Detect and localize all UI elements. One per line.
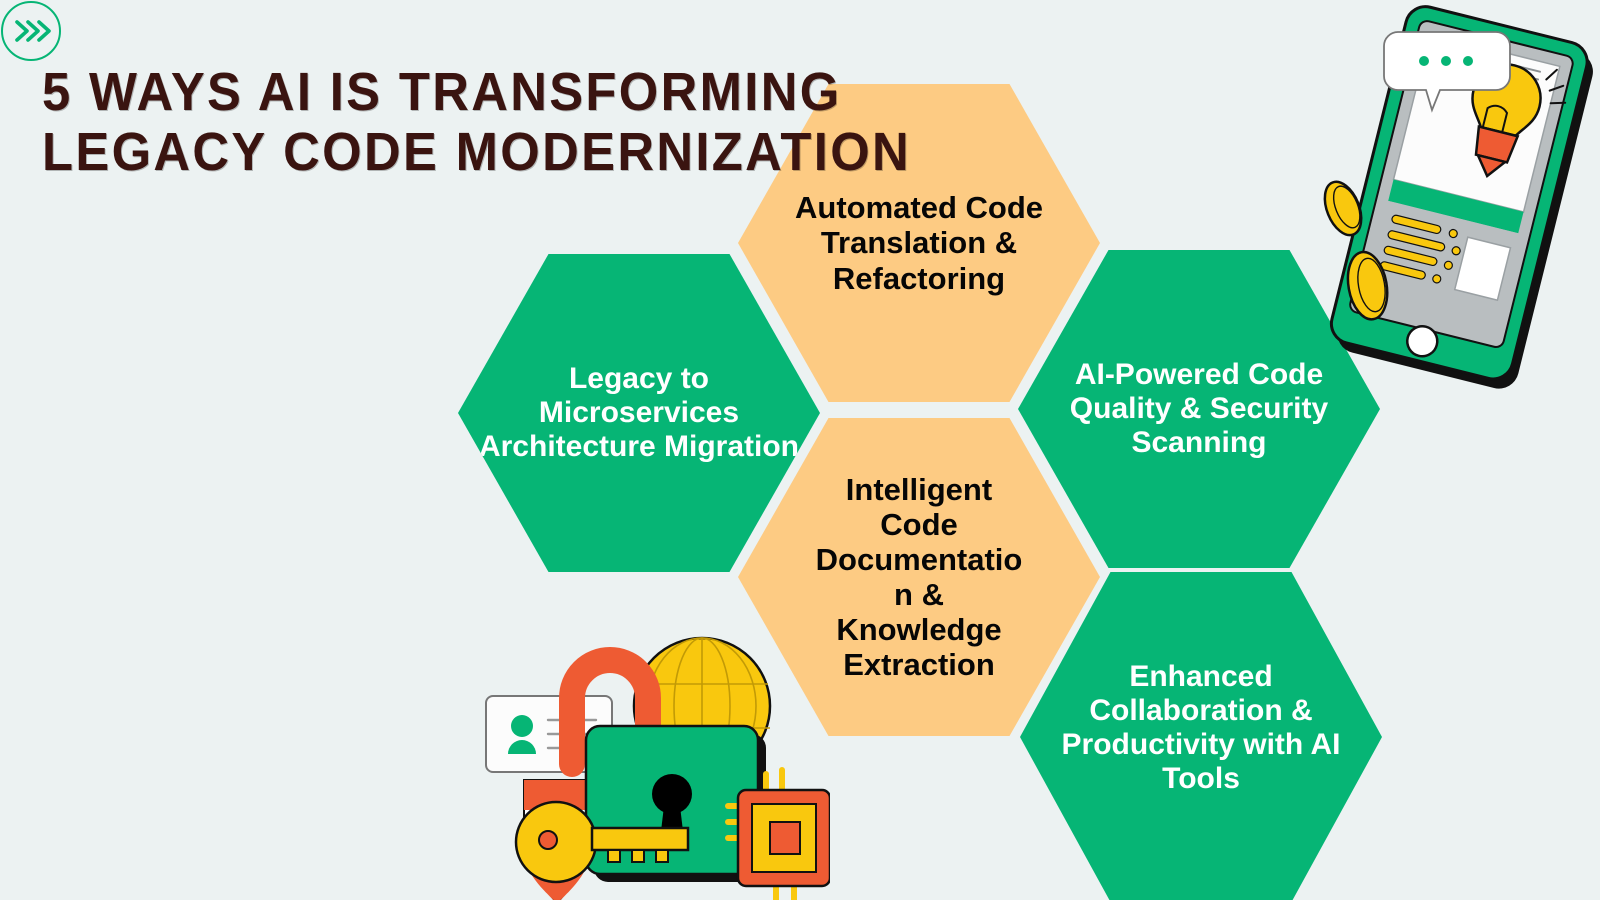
hexagon-label: Legacy to Microservices Architecture Mig…: [458, 362, 820, 464]
hexagon-label: Automated Code Translation & Refactoring: [738, 190, 1100, 295]
chip-icon: [728, 770, 830, 900]
page-title-line-2: Legacy Code Modernization: [42, 122, 719, 182]
tablet-idea-illustration: [1300, 0, 1600, 414]
chevron-right-icon: [17, 22, 49, 40]
page-title: 5 Ways AI Is Transforming Legacy Code Mo…: [42, 62, 762, 182]
hexagon-legacy-to-microservices[interactable]: Legacy to Microservices Architecture Mig…: [458, 254, 820, 572]
hexagon-label: Enhanced Collaboration & Productivity wi…: [1020, 660, 1382, 796]
page-title-line-1: 5 Ways AI Is Transforming: [42, 62, 719, 122]
hexagon-label: Intelligent Code Documentation & Knowled…: [794, 472, 1044, 682]
infographic-canvas: 5 Ways AI Is Transforming Legacy Code Mo…: [0, 0, 1600, 900]
next-arrow-button[interactable]: [0, 0, 62, 62]
security-lock-illustration: [480, 578, 830, 900]
